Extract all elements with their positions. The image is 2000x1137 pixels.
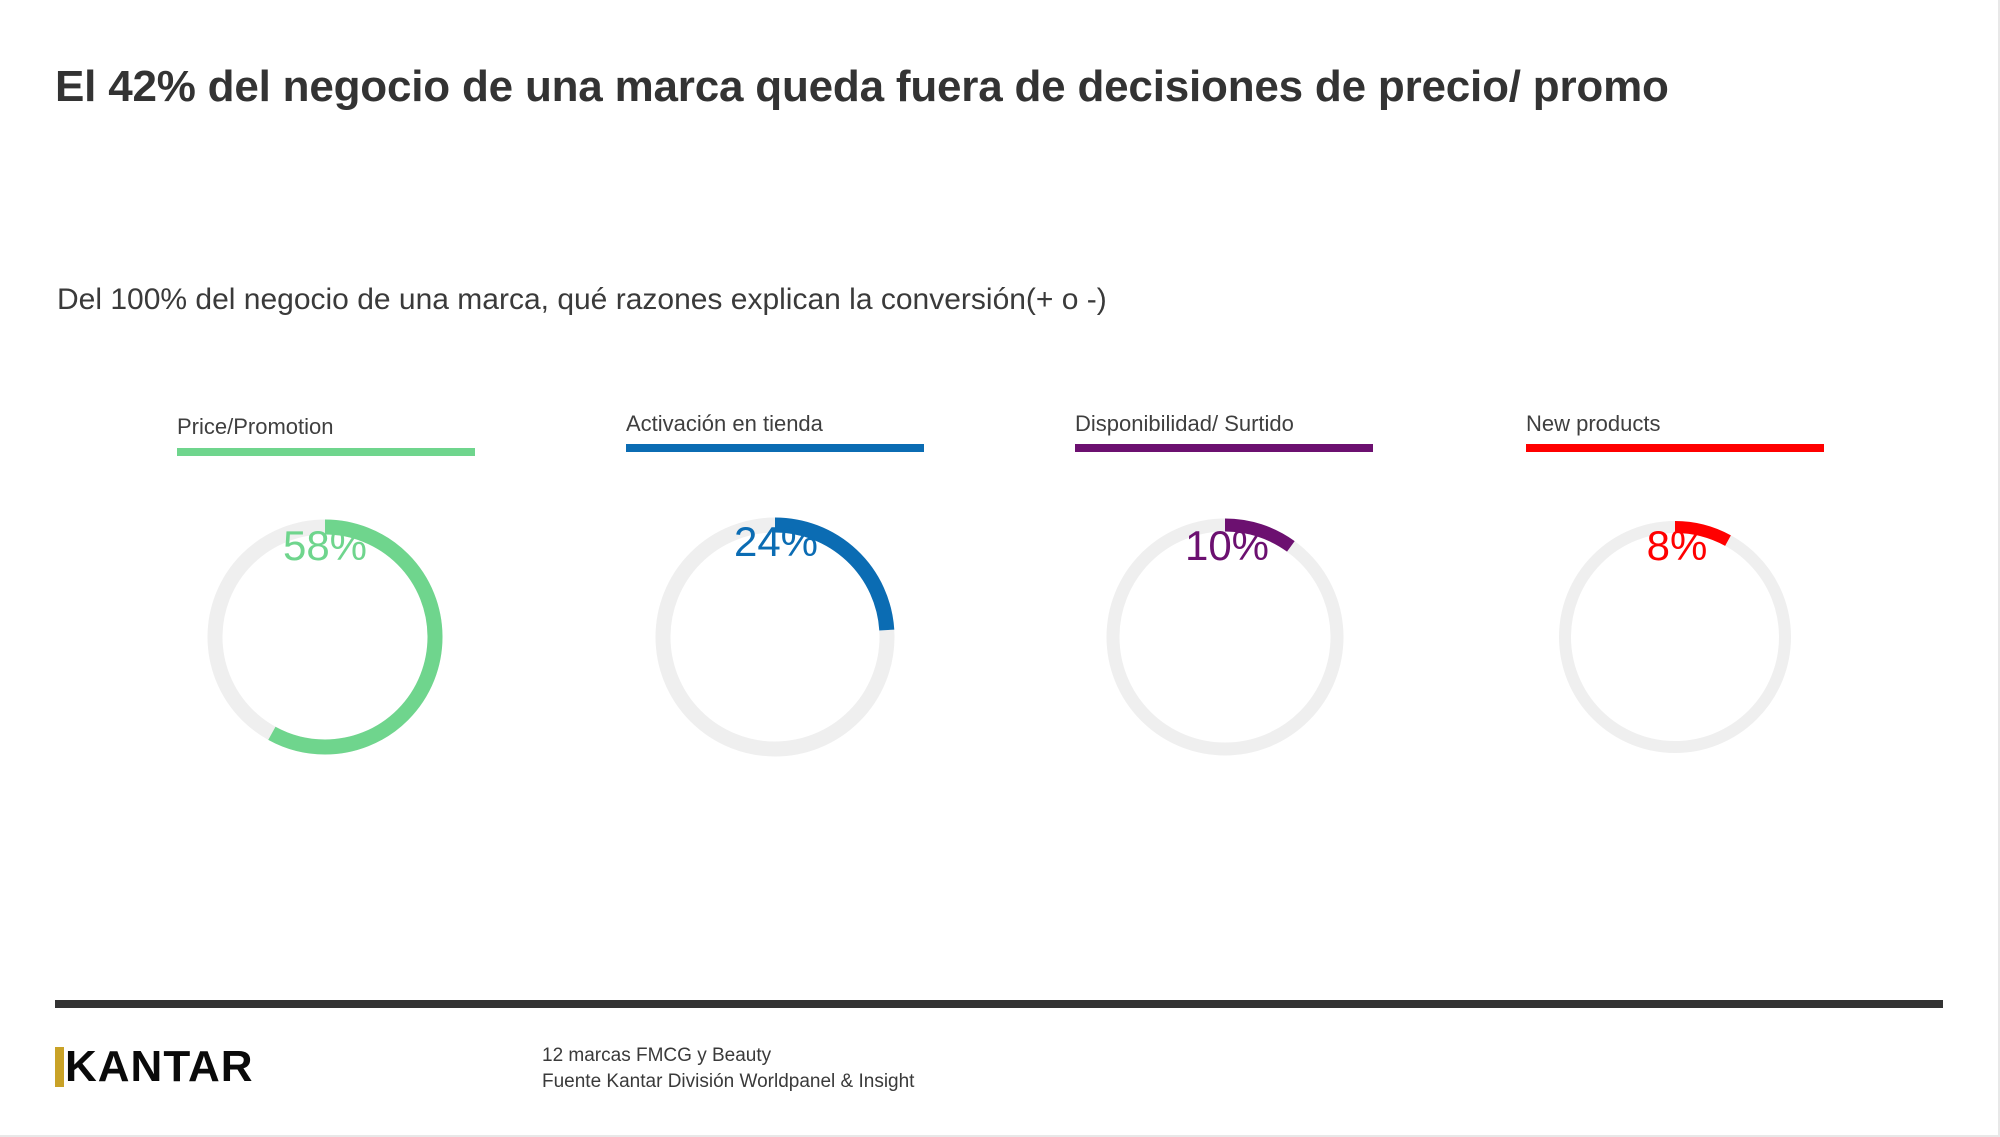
logo-wordmark: KANTAR: [65, 1047, 254, 1087]
source-line-2: Fuente Kantar División Worldpanel & Insi…: [542, 1069, 914, 1095]
source-note: 12 marcas FMCG y Beauty Fuente Kantar Di…: [542, 1043, 914, 1094]
donut-card-price-promotion: Price/Promotion 58%: [135, 400, 575, 830]
donut-card-underline: [1526, 444, 1824, 452]
donut-value-label: 10%: [1007, 522, 1447, 570]
source-line-1: 12 marcas FMCG y Beauty: [542, 1043, 914, 1069]
page-title: El 42% del negocio de una marca queda fu…: [55, 62, 1945, 111]
donut-card-underline: [177, 448, 475, 456]
donut-chart-group: Price/Promotion 58% Activación en tienda…: [0, 400, 2000, 830]
donut-card-activacion-en-tienda: Activación en tienda 24%: [585, 400, 1025, 830]
donut-card-label: New products: [1526, 411, 1661, 437]
donut-card-label: Price/Promotion: [177, 414, 334, 440]
donut-card-underline: [1075, 444, 1373, 452]
slide-canvas: El 42% del negocio de una marca queda fu…: [0, 0, 2000, 1137]
donut-card-underline: [626, 444, 924, 452]
donut-value-label: 24%: [556, 518, 996, 566]
donut-value-label: 58%: [105, 522, 545, 570]
donut-card-disponibilidad-surtido: Disponibilidad/ Surtido 10%: [1035, 400, 1475, 830]
donut-card-label: Disponibilidad/ Surtido: [1075, 411, 1294, 437]
page-subtitle: Del 100% del negocio de una marca, qué r…: [57, 283, 1107, 317]
footer-divider: [55, 1000, 1943, 1008]
donut-card-new-products: New products 8%: [1485, 400, 1925, 830]
donut-card-label: Activación en tienda: [626, 411, 823, 437]
logo-accent-bar: [55, 1047, 64, 1087]
donut-value-label: 8%: [1457, 522, 1897, 570]
kantar-logo: KANTAR: [55, 1046, 254, 1088]
